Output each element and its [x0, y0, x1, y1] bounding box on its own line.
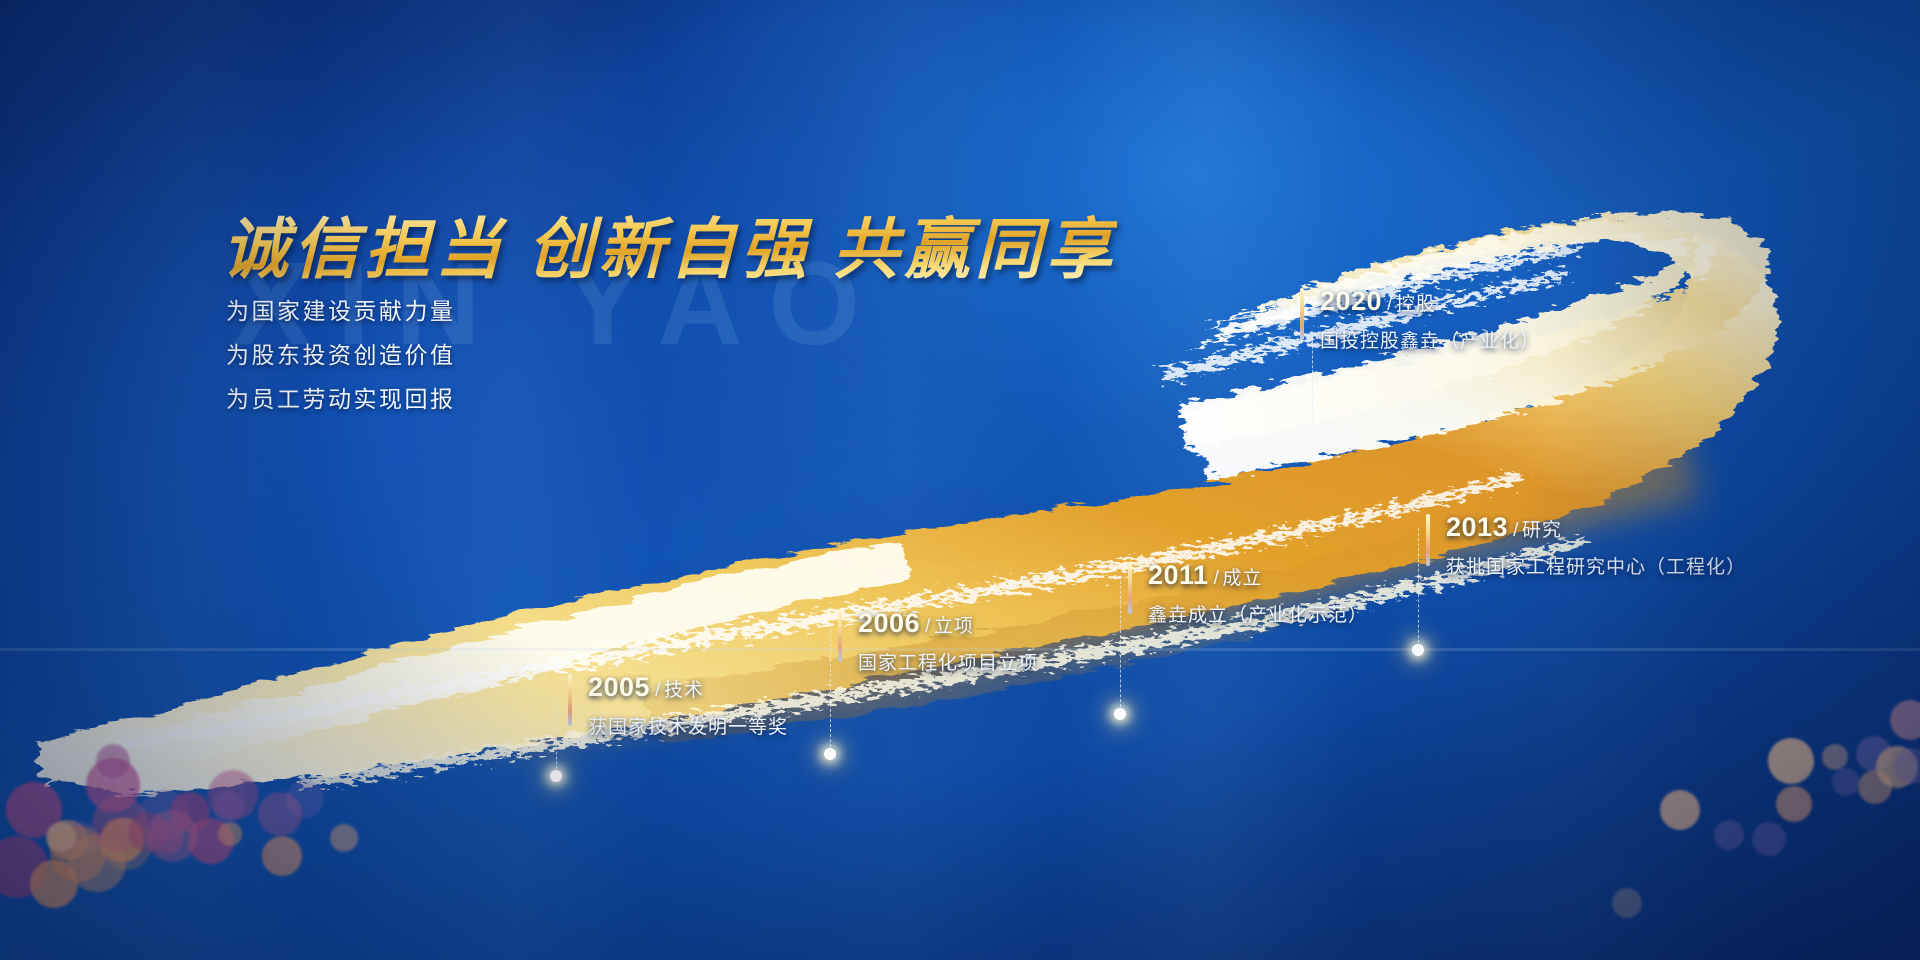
year-separator-2011: / [1214, 568, 1220, 589]
category-2013: 研究 [1522, 520, 1562, 541]
timeline-entry-2006[interactable]: 2006/立项 国家工程化项目立项 [838, 608, 1038, 675]
timeline-leader-2013 [1418, 528, 1419, 648]
poster-canvas: XIN YAO 诚信担当 创新自强 共赢同享 为国家建设贡献力量 为股东投资创造… [0, 0, 1920, 960]
timeline-desc-2005: 获国家技术发明一等奖 [568, 712, 788, 739]
accent-bar-2013 [1426, 514, 1430, 566]
timeline-entry-2013[interactable]: 2013/研究 获批国家工程研究中心（工程化） [1426, 512, 1746, 579]
timeline-year-2006: 2006/立项 [838, 608, 1038, 639]
subtitle-line-1: 为国家建设贡献力量 [226, 292, 456, 326]
year-separator-2005: / [655, 680, 661, 701]
year-value-2005: 2005 [588, 672, 650, 702]
accent-bar-2006 [838, 610, 842, 662]
year-value-2013: 2013 [1446, 512, 1508, 542]
timeline-desc-2011: 鑫垚成立（产业化示范） [1128, 600, 1368, 627]
timeline-entry-2005[interactable]: 2005/技术 获国家技术发明一等奖 [568, 672, 788, 739]
timeline-year-2011: 2011/成立 [1128, 560, 1368, 591]
timeline-year-2005: 2005/技术 [568, 672, 788, 703]
subtitle-line-2: 为股东投资创造价值 [226, 336, 456, 370]
accent-bar-2020 [1300, 288, 1304, 340]
accent-bar-2011 [1128, 562, 1132, 614]
background-light-streaks [0, 0, 1920, 960]
year-value-2011: 2011 [1148, 560, 1209, 590]
timeline-desc-2013: 获批国家工程研究中心（工程化） [1426, 552, 1746, 579]
page-title: 诚信担当 创新自强 共赢同享 [222, 196, 1117, 292]
subtitle-line-3: 为员工劳动实现回报 [226, 380, 456, 414]
year-value-2020: 2020 [1320, 286, 1382, 316]
timeline-leader-2005 [556, 698, 557, 774]
timeline-desc-2006: 国家工程化项目立项 [838, 648, 1038, 675]
year-separator-2006: / [925, 616, 931, 637]
accent-bar-2005 [568, 674, 572, 726]
timeline-year-2020: 2020/控股 [1300, 286, 1540, 317]
year-value-2006: 2006 [858, 608, 920, 638]
category-2020: 控股 [1396, 294, 1436, 315]
timeline-leader-2006 [830, 624, 831, 752]
vignette-overlay [0, 0, 1920, 960]
timeline-entry-2011[interactable]: 2011/成立 鑫垚成立（产业化示范） [1128, 560, 1368, 627]
brush-ribbon-artwork [0, 0, 1920, 960]
timeline-leader-2011 [1120, 576, 1121, 712]
year-separator-2020: / [1387, 294, 1393, 315]
category-2006: 立项 [934, 616, 974, 637]
timeline-entry-2020[interactable]: 2020/控股 国投控股鑫垚（产业化） [1300, 286, 1540, 353]
timeline-year-2013: 2013/研究 [1426, 512, 1746, 543]
category-2005: 技术 [664, 680, 704, 701]
timeline-desc-2020: 国投控股鑫垚（产业化） [1300, 326, 1540, 353]
year-separator-2013: / [1513, 520, 1519, 541]
category-2011: 成立 [1222, 568, 1262, 589]
